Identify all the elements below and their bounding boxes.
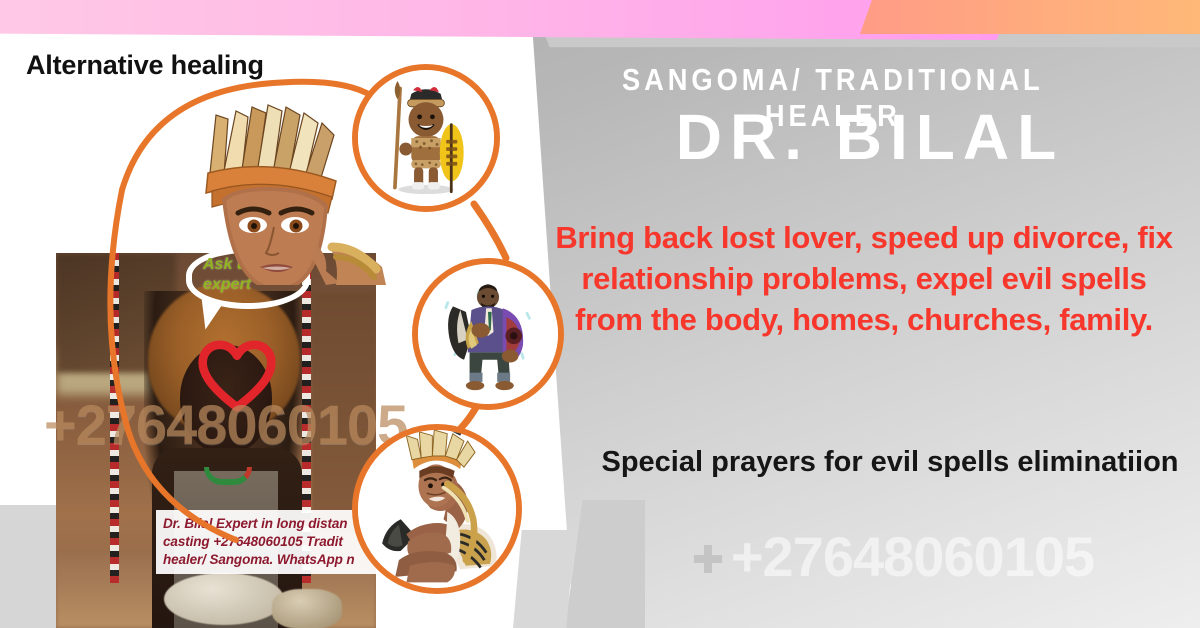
poster-canvas: Alternative healing Ask the expert +2764… <box>0 0 1200 628</box>
speech-bubble-tail <box>198 299 224 331</box>
photo-pot <box>164 573 284 625</box>
orange-gradient-band <box>860 0 1200 34</box>
orange-band-container <box>0 0 1200 40</box>
page-title: Alternative healing <box>26 50 264 81</box>
crouching-warrior-illustration <box>352 424 522 594</box>
services-black-text: Special prayers for evil spells eliminat… <box>600 444 1180 482</box>
photo-basket <box>272 589 342 628</box>
phone-watermark: +27648060105 <box>640 524 1185 589</box>
background-gray-corner-bottom-left <box>0 505 62 628</box>
traditional-healer-figure <box>412 258 564 410</box>
doctor-name-title: DR. BILAL <box>560 104 1180 171</box>
background-gray-parallelogram <box>513 530 575 628</box>
services-red-text: Bring back lost lover, speed up divorce,… <box>548 218 1180 341</box>
zulu-warrior-cartoon <box>352 64 500 212</box>
photo-phone-watermark: +27648060105 <box>44 392 407 457</box>
